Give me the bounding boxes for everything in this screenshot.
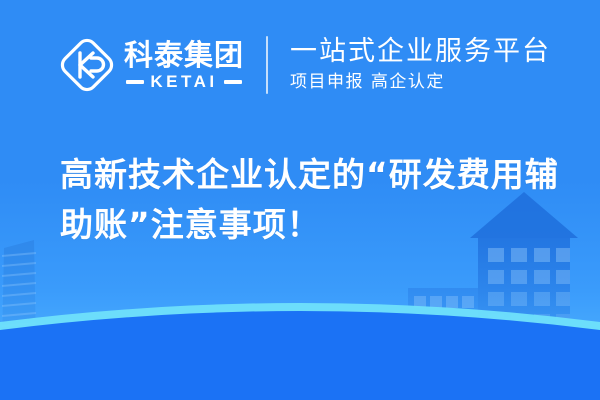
kp-diamond-monogram-icon — [58, 36, 116, 94]
banner-header: 科泰集团 KETAI 一站式企业服务平台 项目申报 高企认定 — [0, 0, 600, 130]
logo-company-name-cn: 科泰集团 — [124, 40, 244, 70]
wave-divider — [0, 290, 600, 400]
promo-banner: 科泰集团 KETAI 一站式企业服务平台 项目申报 高企认定 高新技术企业认定的… — [0, 0, 600, 400]
header-tagline: 一站式企业服务平台 项目申报 高企认定 — [290, 36, 551, 94]
page-title: 高新技术企业认定的“研发费用辅 助账”注意事项！ — [60, 150, 560, 250]
logo-wordmark: 科泰集团 KETAI — [124, 40, 244, 90]
logo-dash-right — [224, 80, 242, 84]
header-divider — [266, 36, 268, 94]
page-title-line-2: 助账”注意事项！ — [60, 200, 560, 250]
page-title-line-1: 高新技术企业认定的“研发费用辅 — [60, 150, 560, 200]
tagline-main-text: 一站式企业服务平台 — [290, 36, 551, 68]
company-logo[interactable]: 科泰集团 KETAI — [58, 36, 244, 94]
logo-company-name-en-row: KETAI — [126, 73, 241, 90]
logo-company-name-en: KETAI — [150, 73, 217, 90]
logo-dash-left — [126, 80, 144, 84]
tagline-sub-text: 项目申报 高企认定 — [290, 70, 551, 94]
